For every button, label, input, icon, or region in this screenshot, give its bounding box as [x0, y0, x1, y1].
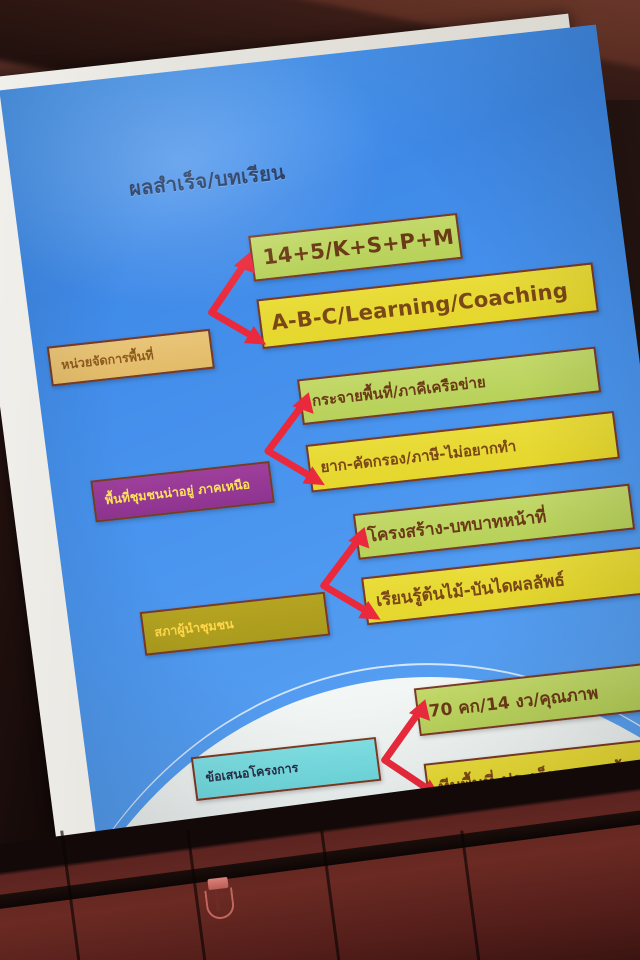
target-box-row3-b-label: เรียนรู้ต้นไม้-บันไดผลลัพธ์ — [374, 566, 566, 614]
target-box-row2-b[interactable]: ยาก-คัดกรอง/ภาษี-ไม่อยากทำ — [306, 411, 620, 493]
source-box-row3-label: สภาผู้นำชุมชน — [153, 614, 235, 643]
photo-scene: ผลสำเร็จ/บทเรียน หน่วยจัดการพื้นที่ 14+5… — [0, 0, 640, 960]
arrow-pair-row1 — [193, 240, 277, 357]
target-box-row3-a-label: โครงสร้าง-บทบาทหน้าที่ — [366, 503, 548, 549]
source-box-row1-label: หน่วยจัดการพื้นที่ — [60, 345, 155, 375]
target-box-row1-b-label: A-B-C/Learning/Coaching — [270, 278, 569, 334]
source-box-row3[interactable]: สภาผู้นำชุมชน — [140, 592, 331, 656]
target-box-row4-a-label: 70 คก/14 งว/คุณภาพ — [427, 679, 600, 724]
source-box-row2-label: พื้นที่ชุมชนน่าอยู่ ภาคเหนือ — [104, 474, 251, 510]
screen-surface: ผลสำเร็จ/บทเรียน หน่วยจัดการพื้นที่ 14+5… — [0, 25, 640, 902]
target-box-row2-b-label: ยาก-คัดกรอง/ภาษี-ไม่อยากทำ — [319, 434, 518, 479]
target-box-row1-a-label: 14+5/K+S+P+M — [261, 225, 455, 270]
arrow-pair-row2 — [250, 383, 336, 500]
target-box-row2-a-label: กระจายพื้นที่/ภาคีเครือข่าย — [310, 370, 487, 413]
presentation-slide: ผลสำเร็จ/บทเรียน หน่วยจัดการพื้นที่ 14+5… — [0, 25, 640, 902]
target-box-row2-a[interactable]: กระจายพื้นที่/ภาคีเครือข่าย — [297, 347, 601, 426]
target-box-row1-a[interactable]: 14+5/K+S+P+M — [248, 213, 463, 282]
arrow-pair-row3 — [306, 517, 392, 634]
source-box-row4-label: ข้อเสนอโครงการ — [204, 758, 299, 788]
target-box-row3-b[interactable]: เรียนรู้ต้นไม้-บันไดผลลัพธ์ — [361, 546, 640, 625]
source-box-row1[interactable]: หน่วยจัดการพื้นที่ — [47, 329, 215, 387]
source-box-row2[interactable]: พื้นที่ชุมชนน่าอยู่ ภาคเหนือ — [90, 461, 274, 522]
target-box-row3-a[interactable]: โครงสร้าง-บทบาทหน้าที่ — [353, 484, 635, 560]
slide-title: ผลสำเร็จ/บทเรียน — [127, 156, 287, 205]
